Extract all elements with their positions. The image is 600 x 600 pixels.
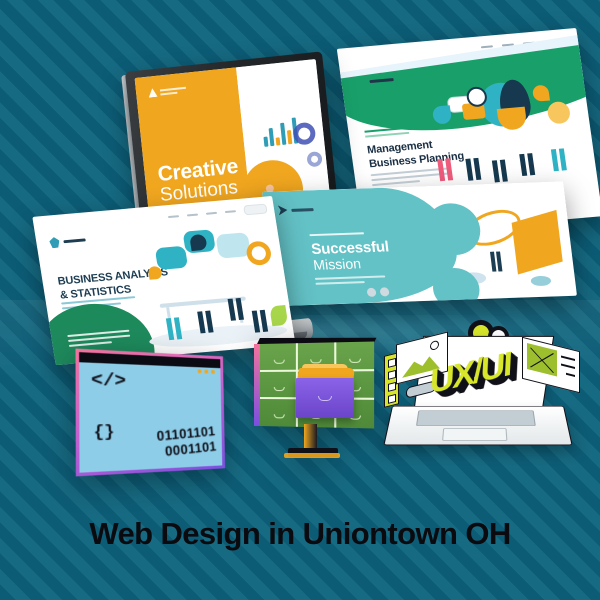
drawer-handle[interactable] (274, 387, 285, 391)
code-browser-window: </> {} 01101101 0001101 (76, 349, 226, 477)
person-figure (486, 129, 504, 131)
drawer-handle[interactable] (274, 360, 285, 364)
tool-icon[interactable] (388, 394, 396, 404)
cabinet-stand-neck (304, 424, 317, 450)
logo-mark-icon (148, 88, 158, 98)
window-screen: </> {} 01101101 0001101 (79, 352, 222, 473)
deco-shape (532, 85, 550, 102)
chat-bubble-icon (155, 246, 188, 270)
cabinet-stand-base (288, 448, 338, 457)
code-brace-icon: {} (94, 423, 115, 442)
nav-item[interactable] (168, 215, 179, 218)
window-titlebar (79, 352, 220, 368)
tool-icon[interactable] (388, 358, 396, 368)
drawer-handle[interactable] (349, 359, 361, 363)
chat-bubble-icon (215, 232, 251, 259)
deco-shape (497, 107, 528, 131)
mission-pagination-dots[interactable] (366, 287, 389, 297)
nav-item[interactable] (225, 210, 236, 213)
deco-shape (530, 276, 551, 287)
binary-text: 01101101 0001101 (156, 424, 217, 460)
mission-heading: Successful Mission (310, 239, 391, 273)
nav-item[interactable] (481, 45, 493, 48)
deco-circle (546, 101, 571, 125)
bas-meeting-illustration (128, 222, 293, 353)
brand-wordmark (369, 78, 393, 83)
deco-shape (432, 105, 452, 124)
successful-mission-card: Successful Mission (262, 181, 577, 306)
creative-heading: Creative Solutions (157, 156, 241, 206)
tool-icon[interactable] (388, 370, 396, 380)
brand-arrow-icon (278, 205, 288, 215)
person-figure (190, 280, 208, 282)
logo-mark-icon (49, 237, 61, 249)
person-figure (159, 286, 177, 288)
gear-icon (306, 151, 322, 167)
window-frame: </> {} 01101101 0001101 (76, 349, 226, 477)
mission-logo (278, 204, 314, 215)
mbp-kicker-line-2 (365, 132, 409, 138)
laptop-base (383, 406, 572, 445)
brand-wordmark (63, 238, 85, 243)
laptop-uxui-illustration: UX/UI (382, 318, 582, 488)
person-figure (245, 279, 263, 281)
bas-nav[interactable] (167, 204, 267, 223)
poster-canvas: Management Business Planning (0, 0, 600, 600)
creative-logo (148, 85, 189, 98)
page-title: Web Design in Uniontown OH (0, 516, 600, 552)
file-cabinet-illustration (252, 338, 374, 464)
nav-item[interactable] (206, 212, 217, 215)
wireframe-cross (527, 343, 557, 376)
search-input[interactable] (243, 204, 268, 216)
wireframe-line (561, 363, 575, 368)
wireframe-line (561, 355, 575, 360)
window-control-dots[interactable] (198, 369, 215, 374)
code-tag-icon: </> (91, 371, 126, 393)
drawer-handle[interactable] (274, 414, 285, 418)
plant-icon (269, 305, 288, 326)
person-figure (459, 127, 477, 129)
brand-arrow-icon (355, 77, 366, 88)
window-dot[interactable] (204, 370, 208, 374)
window-dot[interactable] (198, 369, 202, 373)
bas-logo (49, 234, 87, 248)
sun-icon (430, 340, 439, 351)
brand-wordmark (291, 208, 313, 212)
person-figure (431, 127, 449, 129)
dot[interactable] (380, 287, 390, 296)
drawer-handle[interactable] (310, 359, 321, 363)
window-dot[interactable] (211, 370, 215, 374)
wireframe-line (566, 373, 575, 377)
laptop-trackpad[interactable] (442, 428, 507, 441)
laptop-keyboard[interactable] (416, 410, 536, 426)
tool-icon[interactable] (388, 382, 396, 392)
nav-item[interactable] (187, 214, 198, 217)
dot[interactable] (366, 288, 376, 297)
person-figure (221, 267, 239, 269)
